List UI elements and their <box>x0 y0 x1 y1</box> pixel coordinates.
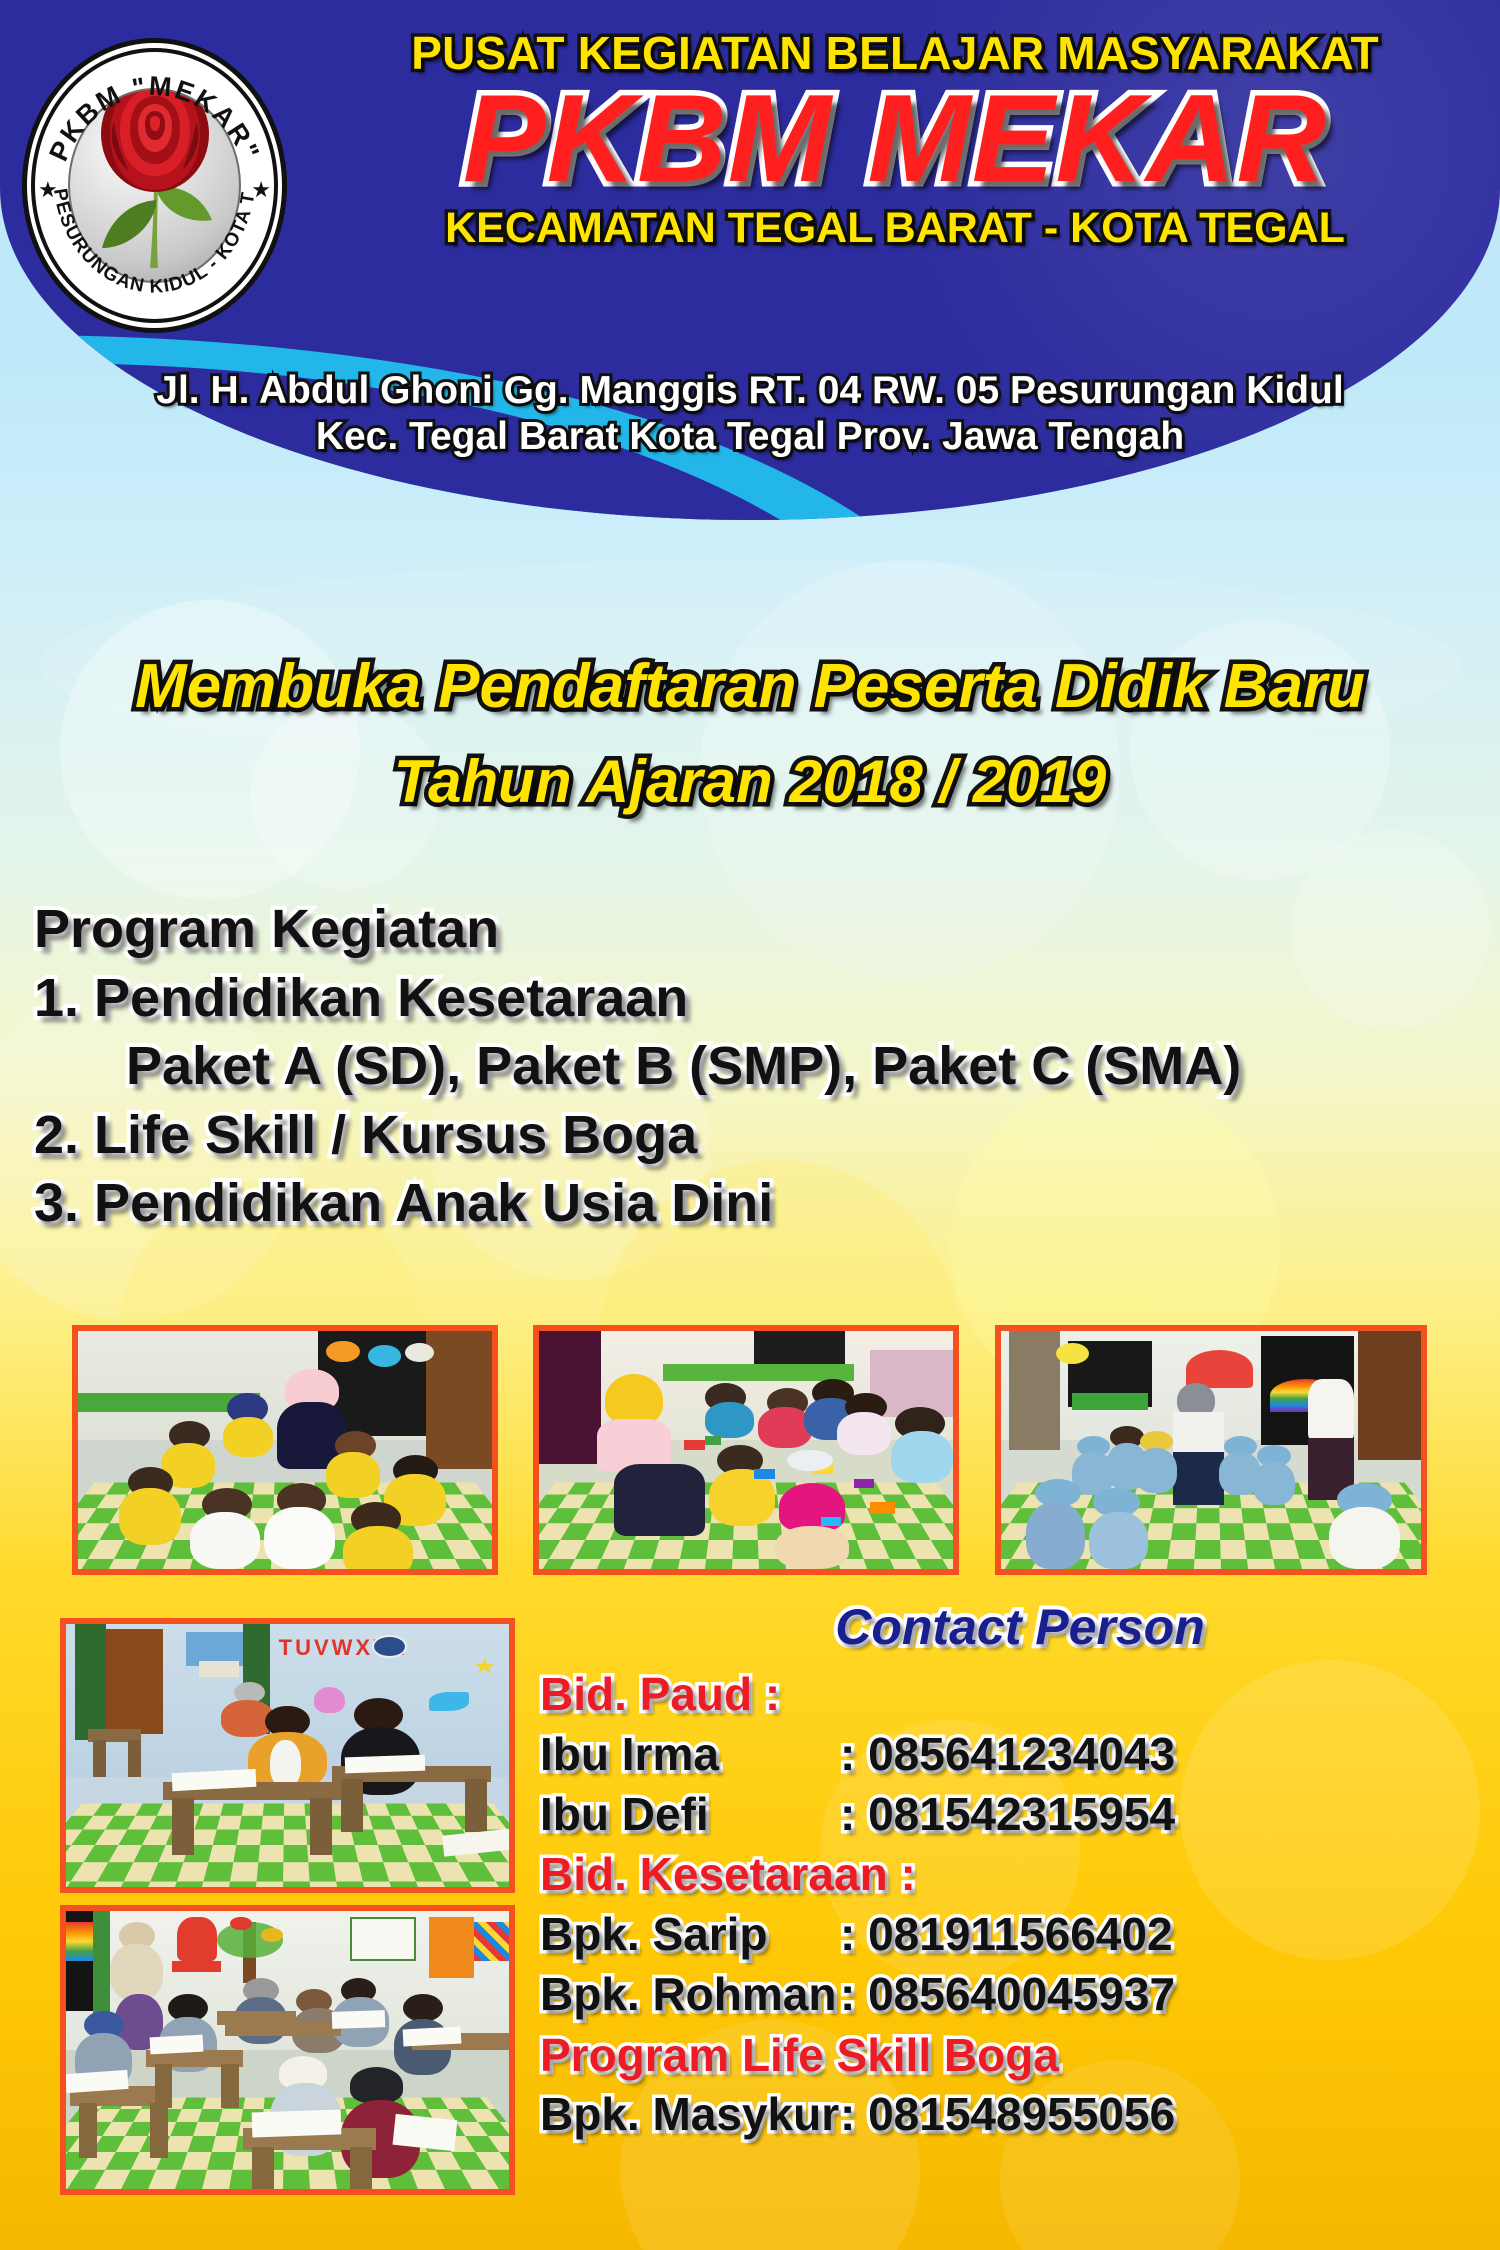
logo-seal: ★ ★ PKBM "MEKAR" KEL. PESURUNGAN KIDUL -… <box>22 38 287 333</box>
contact-name: Bpk. Rohman <box>540 1965 840 2025</box>
address-line-2: Kec. Tegal Barat Kota Tegal Prov. Jawa T… <box>0 414 1500 460</box>
contact-number[interactable]: : 081542315954 <box>840 1785 1175 1845</box>
program-item-1: 1. Pendidikan Kesetaraan <box>34 964 1464 1033</box>
photo-kesetaraan-group <box>60 1905 515 2195</box>
logo-arc-text: PKBM "MEKAR" KEL. PESURUNGAN KIDUL - KOT… <box>22 38 287 333</box>
photo-paud-circle-time <box>72 1325 498 1575</box>
contact-group-kesetaraan: Bid. Kesetaraan : Bpk. Sarip : 081911566… <box>540 1844 1500 2024</box>
poster-root: ★ ★ PKBM "MEKAR" KEL. PESURUNGAN KIDUL -… <box>0 0 1500 2250</box>
header-title-small: PUSAT KEGIATAN BELAJAR MASYARAKAT <box>300 30 1490 77</box>
svg-text:PKBM "MEKAR": PKBM "MEKAR" <box>43 71 266 166</box>
contact-person-title: Contact Person <box>540 1598 1500 1656</box>
contact-row: Bpk. Masykur : 081548955056 <box>540 2085 1500 2145</box>
contact-name: Bpk. Sarip <box>540 1905 840 1965</box>
photo-paud-block-play <box>533 1325 959 1575</box>
contact-person-block: Contact Person Bid. Paud : Ibu Irma : 08… <box>540 1598 1500 2145</box>
program-item-2: 2. Life Skill / Kursus Boga <box>34 1101 1464 1170</box>
contact-row: Ibu Defi : 081542315954 <box>540 1785 1500 1845</box>
header-title-main: PKBM MEKAR <box>300 79 1490 201</box>
contact-number[interactable]: : 085640045937 <box>840 1965 1175 2025</box>
contact-group-paud: Bid. Paud : Ibu Irma : 085641234043 Ibu … <box>540 1664 1500 1844</box>
header-title-block: PUSAT KEGIATAN BELAJAR MASYARAKAT PKBM M… <box>300 30 1490 251</box>
contact-row: Bpk. Rohman : 085640045937 <box>540 1965 1500 2025</box>
contact-group-life-skill: Program Life Skill Boga Bpk. Masykur : 0… <box>540 2025 1500 2146</box>
contact-group-heading: Bid. Kesetaraan : <box>540 1844 1500 1905</box>
header-address: Jl. H. Abdul Ghoni Gg. Manggis RT. 04 RW… <box>0 368 1500 460</box>
program-list: Program Kegiatan 1. Pendidikan Kesetaraa… <box>34 895 1464 1238</box>
contact-row: Ibu Irma : 085641234043 <box>540 1725 1500 1785</box>
contact-row: Bpk. Sarip : 081911566402 <box>540 1905 1500 1965</box>
contact-group-heading: Bid. Paud : <box>540 1664 1500 1725</box>
header-title-sub: KECAMATAN TEGAL BARAT - KOTA TEGAL <box>300 206 1490 251</box>
headline-block: Membuka Pendaftaran Peserta Didik Baru T… <box>0 650 1500 818</box>
contact-number[interactable]: : 081548955056 <box>840 2085 1175 2145</box>
photo-paud-activity <box>995 1325 1427 1575</box>
contact-name: Ibu Irma <box>540 1725 840 1785</box>
program-item-1-detail: Paket A (SD), Paket B (SMP), Paket C (SM… <box>34 1032 1464 1101</box>
contact-number[interactable]: : 081911566402 <box>840 1905 1173 1965</box>
contact-name: Bpk. Masykur <box>540 2085 840 2145</box>
headline-line-2: Tahun Ajaran 2018 / 2019 <box>0 746 1500 818</box>
program-heading: Program Kegiatan <box>34 895 1464 964</box>
photo-kesetaraan-class: TUVWXYZ <box>60 1618 515 1893</box>
address-line-1: Jl. H. Abdul Ghoni Gg. Manggis RT. 04 RW… <box>0 368 1500 414</box>
contact-group-heading: Program Life Skill Boga <box>540 2025 1500 2086</box>
headline-line-1: Membuka Pendaftaran Peserta Didik Baru <box>0 650 1500 724</box>
contact-number[interactable]: : 085641234043 <box>840 1725 1175 1785</box>
program-item-3: 3. Pendidikan Anak Usia Dini <box>34 1169 1464 1238</box>
contact-name: Ibu Defi <box>540 1785 840 1845</box>
